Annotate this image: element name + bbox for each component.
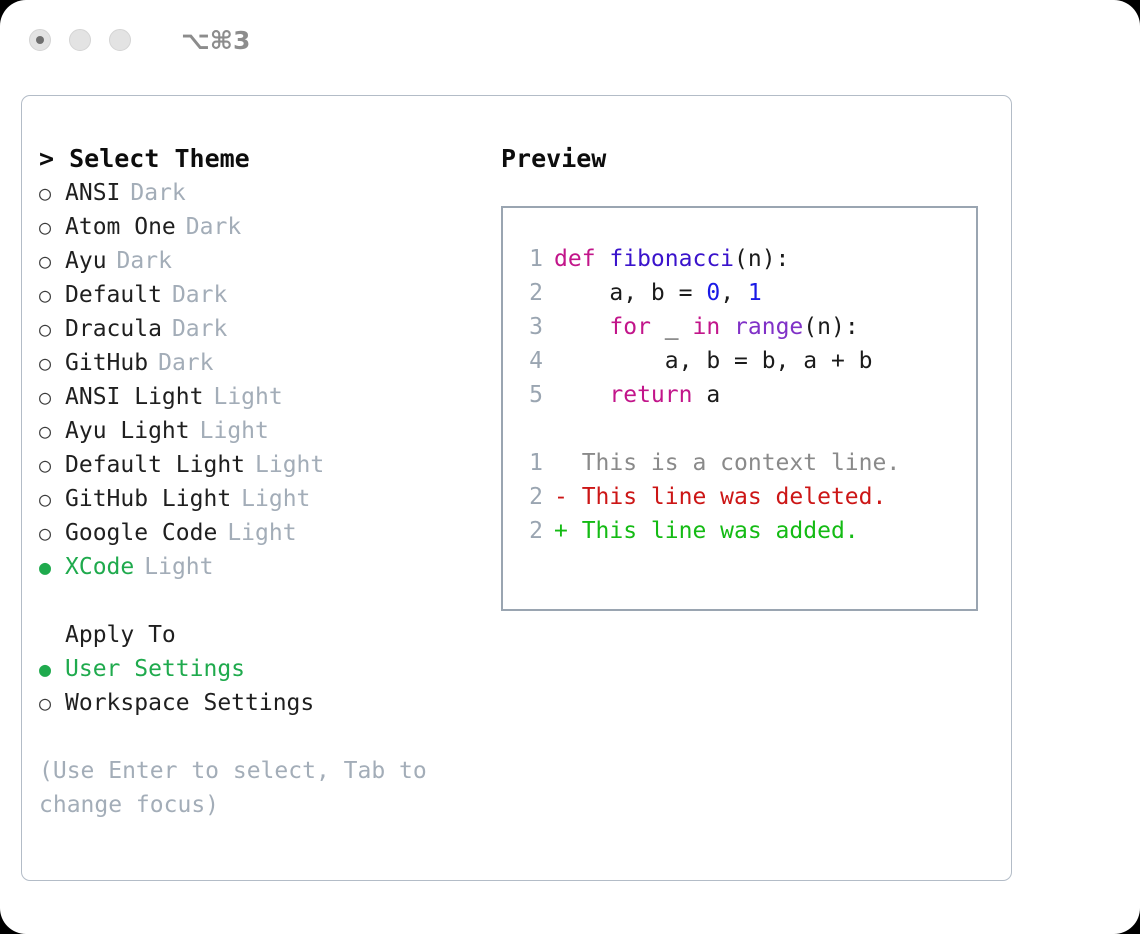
line-number: 1 — [517, 446, 543, 480]
theme-name: Default — [65, 278, 162, 312]
window-dot-inner-icon — [36, 36, 44, 44]
line-number: 3 — [517, 310, 543, 344]
theme-list-item[interactable]: ○Ayu LightLight — [39, 414, 479, 448]
preview-box: 1def fibonacci(n):2 a, b = 0, 13 for _ i… — [501, 206, 978, 611]
code-token: for — [609, 314, 651, 340]
theme-list-item[interactable]: ○ANSI LightLight — [39, 380, 479, 414]
diff-sample: 1 This is a context line.2- This line wa… — [517, 446, 976, 548]
code-token — [720, 314, 734, 340]
diff-line: 2+ This line was added. — [517, 514, 976, 548]
theme-list-item[interactable]: ○DraculaDark — [39, 312, 479, 346]
code-token: 0 — [706, 280, 720, 306]
code-line: 3 for _ in range(n): — [517, 310, 976, 344]
code-token — [554, 382, 609, 408]
code-token: (n): — [734, 246, 789, 272]
theme-variant-label: Light — [200, 414, 269, 448]
line-number: 4 — [517, 344, 543, 378]
diff-line: 1 This is a context line. — [517, 446, 976, 480]
radio-unselected-icon: ○ — [39, 346, 65, 380]
window-dot-3-icon[interactable] — [109, 29, 131, 51]
theme-list-item[interactable]: ○Default LightLight — [39, 448, 479, 482]
diff-line: 2- This line was deleted. — [517, 480, 976, 514]
code-text: - This line was deleted. — [554, 480, 886, 514]
line-number: 2 — [517, 276, 543, 310]
radio-unselected-icon: ○ — [39, 686, 65, 720]
code-text: + This line was added. — [554, 514, 859, 548]
theme-name: Dracula — [65, 312, 162, 346]
radio-unselected-icon: ○ — [39, 210, 65, 244]
code-token: _ — [651, 314, 693, 340]
radio-selected-icon: ● — [39, 550, 65, 584]
theme-name: GitHub Light — [65, 482, 231, 516]
theme-variant-label: Dark — [117, 244, 172, 278]
title-bar: ⌥⌘3 — [0, 0, 1140, 80]
code-token: , — [720, 280, 748, 306]
window-controls — [29, 29, 131, 51]
theme-list[interactable]: ○ANSIDark○Atom OneDark○AyuDark○DefaultDa… — [39, 176, 479, 584]
theme-name: Atom One — [65, 210, 176, 244]
theme-name: GitHub — [65, 346, 148, 380]
radio-unselected-icon: ○ — [39, 176, 65, 210]
code-text: def fibonacci(n): — [554, 242, 789, 276]
apply-to-list[interactable]: ●User Settings○Workspace Settings — [39, 652, 479, 720]
code-text: a, b = 0, 1 — [554, 276, 762, 310]
theme-variant-label: Dark — [172, 278, 227, 312]
theme-variant-label: Light — [255, 448, 324, 482]
code-text: a, b = b, a + b — [554, 344, 873, 378]
theme-variant-label: Light — [241, 482, 310, 516]
code-text: return a — [554, 378, 720, 412]
theme-name: Google Code — [65, 516, 217, 550]
keyboard-hint-text: (Use Enter to select, Tab to change focu… — [39, 754, 449, 822]
code-sample: 1def fibonacci(n):2 a, b = 0, 13 for _ i… — [517, 242, 976, 412]
theme-variant-label: Light — [227, 516, 296, 550]
code-token — [554, 314, 609, 340]
theme-name: Ayu — [65, 244, 107, 278]
code-token: (n): — [803, 314, 858, 340]
code-token: a, b = — [554, 280, 706, 306]
code-token: fibonacci — [609, 246, 734, 272]
radio-selected-icon: ● — [39, 652, 65, 686]
code-text: for _ in range(n): — [554, 310, 859, 344]
theme-variant-label: Light — [144, 550, 213, 584]
panel-content: > Select Theme ○ANSIDark○Atom OneDark○Ay… — [22, 96, 1011, 880]
code-line: 5 return a — [517, 378, 976, 412]
theme-list-item[interactable]: ○GitHubDark — [39, 346, 479, 380]
theme-list-item[interactable]: ○ANSIDark — [39, 176, 479, 210]
theme-list-item[interactable]: ○DefaultDark — [39, 278, 479, 312]
theme-list-item[interactable]: ○Google CodeLight — [39, 516, 479, 550]
apply-to-heading: Apply To — [39, 618, 479, 652]
keyboard-shortcut-label: ⌥⌘3 — [181, 26, 250, 55]
theme-list-item[interactable]: ○GitHub LightLight — [39, 482, 479, 516]
code-token: def — [554, 246, 609, 272]
theme-list-item[interactable]: ○AyuDark — [39, 244, 479, 278]
theme-name: ANSI — [65, 176, 120, 210]
theme-name: ANSI Light — [65, 380, 203, 414]
code-token: in — [692, 314, 720, 340]
line-number: 2 — [517, 480, 543, 514]
theme-variant-label: Dark — [158, 346, 213, 380]
app-window: ⌥⌘3 > Select Theme ○ANSIDark○Atom OneDar… — [0, 0, 1140, 934]
theme-name: Ayu Light — [65, 414, 190, 448]
code-token: range — [734, 314, 803, 340]
theme-list-item[interactable]: ●XCodeLight — [39, 550, 479, 584]
apply-to-section: Apply To ●User Settings○Workspace Settin… — [39, 618, 479, 720]
code-line: 1def fibonacci(n): — [517, 242, 976, 276]
code-text: This is a context line. — [554, 446, 900, 480]
radio-unselected-icon: ○ — [39, 312, 65, 346]
theme-name: Default Light — [65, 448, 245, 482]
radio-unselected-icon: ○ — [39, 414, 65, 448]
theme-variant-label: Dark — [186, 210, 241, 244]
code-diff-spacer — [517, 412, 976, 446]
code-token: return — [609, 382, 692, 408]
code-token: a, b = b, a + b — [554, 348, 873, 374]
code-token: a — [692, 382, 720, 408]
radio-unselected-icon: ○ — [39, 482, 65, 516]
code-token: - This line was deleted. — [554, 484, 886, 510]
apply-to-label: Workspace Settings — [65, 686, 314, 720]
code-line: 2 a, b = 0, 1 — [517, 276, 976, 310]
theme-variant-label: Dark — [172, 312, 227, 346]
theme-variant-label: Light — [213, 380, 282, 414]
theme-name: XCode — [65, 550, 134, 584]
apply-to-item[interactable]: ●User Settings — [39, 652, 479, 686]
radio-unselected-icon: ○ — [39, 380, 65, 414]
code-token: + This line was added. — [554, 518, 859, 544]
theme-variant-label: Dark — [130, 176, 185, 210]
window-dot-active-icon[interactable] — [29, 29, 51, 51]
apply-to-item[interactable]: ○Workspace Settings — [39, 686, 479, 720]
theme-selection-column: > Select Theme ○ANSIDark○Atom OneDark○Ay… — [39, 142, 479, 822]
code-token: This is a context line. — [554, 450, 900, 476]
line-number: 2 — [517, 514, 543, 548]
code-token: 1 — [748, 280, 762, 306]
radio-unselected-icon: ○ — [39, 278, 65, 312]
window-dot-2-icon[interactable] — [69, 29, 91, 51]
select-theme-heading: > Select Theme — [39, 142, 479, 176]
line-number: 1 — [517, 242, 543, 276]
radio-unselected-icon: ○ — [39, 244, 65, 278]
radio-unselected-icon: ○ — [39, 448, 65, 482]
radio-unselected-icon: ○ — [39, 516, 65, 550]
theme-picker-panel: > Select Theme ○ANSIDark○Atom OneDark○Ay… — [21, 95, 1012, 881]
code-line: 4 a, b = b, a + b — [517, 344, 976, 378]
apply-to-label: User Settings — [65, 652, 245, 686]
preview-heading: Preview — [501, 142, 991, 176]
theme-list-item[interactable]: ○Atom OneDark — [39, 210, 479, 244]
line-number: 5 — [517, 378, 543, 412]
preview-column: Preview 1def fibonacci(n):2 a, b = 0, 13… — [501, 142, 991, 611]
